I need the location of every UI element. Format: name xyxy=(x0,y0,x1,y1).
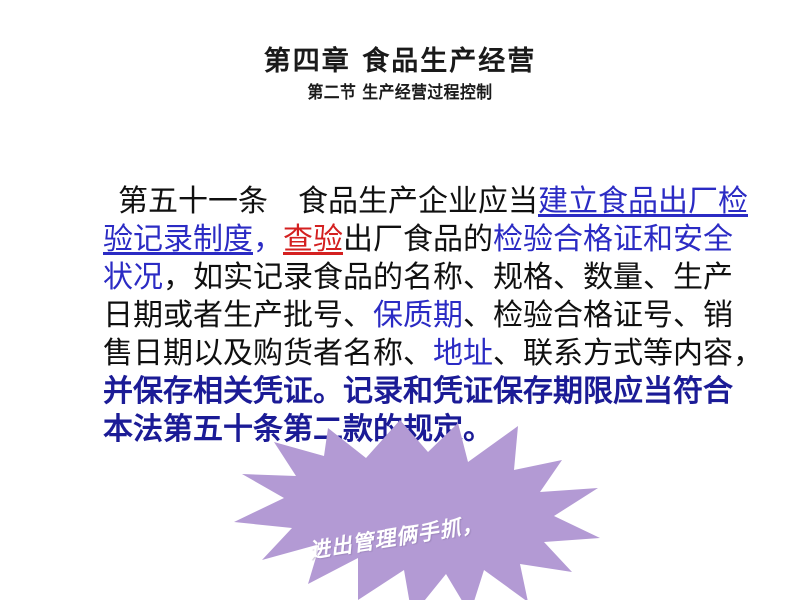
body-line-1: 第五十一条 食品生产企业应当建立食品出厂检 xyxy=(58,145,758,183)
text-segment-link: 验记录制度 xyxy=(103,223,253,256)
text-segment: 状况 xyxy=(103,261,163,294)
text-segment: 、检验合格证号、销 xyxy=(463,299,733,332)
text-segment-link: 建立食品出厂检 xyxy=(538,185,748,218)
text-segment-emphasis: 查验 xyxy=(283,223,343,256)
text-segment: ，如实记录食品的名称、规格、数量、生产 xyxy=(163,261,733,294)
text-segment: 保质期 xyxy=(373,299,463,332)
starburst-polygon xyxy=(234,420,600,600)
page-title: 第四章 食品生产经营 xyxy=(0,46,800,77)
title-block: 第四章 食品生产经营 第二节 生产经营过程控制 xyxy=(0,46,800,104)
text-segment: 售日期以及购货者名称、 xyxy=(103,337,433,370)
body-paragraph: 第五十一条 食品生产企业应当建立食品出厂检 验记录制度，查验出厂食品的检验合格证… xyxy=(58,145,758,411)
text-segment: ， xyxy=(253,223,283,256)
text-segment: 日期或者生产批号、 xyxy=(103,299,373,332)
text-segment: 第五十一条 食品生产企业应当 xyxy=(103,185,538,218)
text-segment: 、联系方式等内容， xyxy=(493,337,763,370)
slide-canvas: 第四章 食品生产经营 第二节 生产经营过程控制 第五十一条 食品生产企业应当建立… xyxy=(0,0,800,600)
text-segment: 检验合格证和安全 xyxy=(493,223,733,256)
page-subtitle: 第二节 生产经营过程控制 xyxy=(28,84,772,104)
starburst-shape-icon xyxy=(232,418,602,600)
text-segment: 出厂食品的 xyxy=(343,223,493,256)
text-segment: 并保存相关凭证。记录和凭证保存期限应当符合 xyxy=(103,375,733,408)
text-segment: 地址 xyxy=(433,337,493,370)
starburst-callout: 进出管理俩手抓， 俩手都要硬 xyxy=(232,418,602,600)
